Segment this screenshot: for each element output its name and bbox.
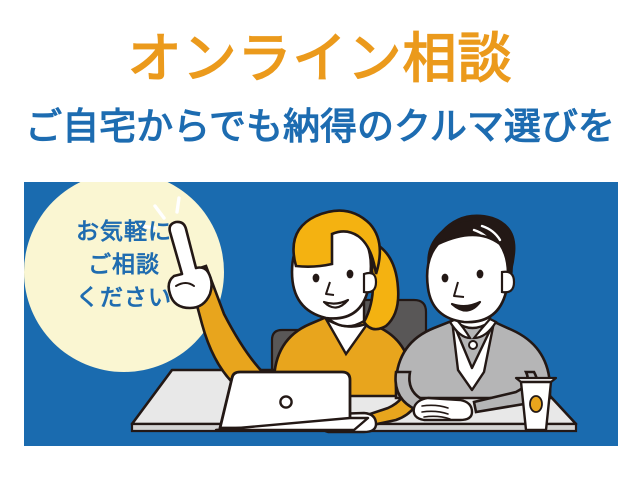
laptop <box>216 372 368 430</box>
online-consultation-poster: オンライン相談 ご自宅からでも納得のクルマ選びを <box>0 0 640 480</box>
page-subtitle: ご自宅からでも納得のクルマ選びを <box>0 104 640 150</box>
laptop-logo-icon <box>280 396 291 407</box>
man-left-eye <box>442 274 449 283</box>
page-title: オンライン相談 <box>0 28 640 90</box>
woman-left-eye <box>313 274 320 283</box>
woman-right-eye <box>347 270 354 279</box>
illustration-svg <box>24 182 618 446</box>
man-right-eye <box>477 270 484 279</box>
woman-ear <box>364 273 376 292</box>
illustration-panel: お気軽に ご相談 ください <box>24 182 618 446</box>
man-shirt-button <box>469 341 477 349</box>
man-ear <box>502 272 514 293</box>
cup-logo-icon <box>530 396 542 412</box>
